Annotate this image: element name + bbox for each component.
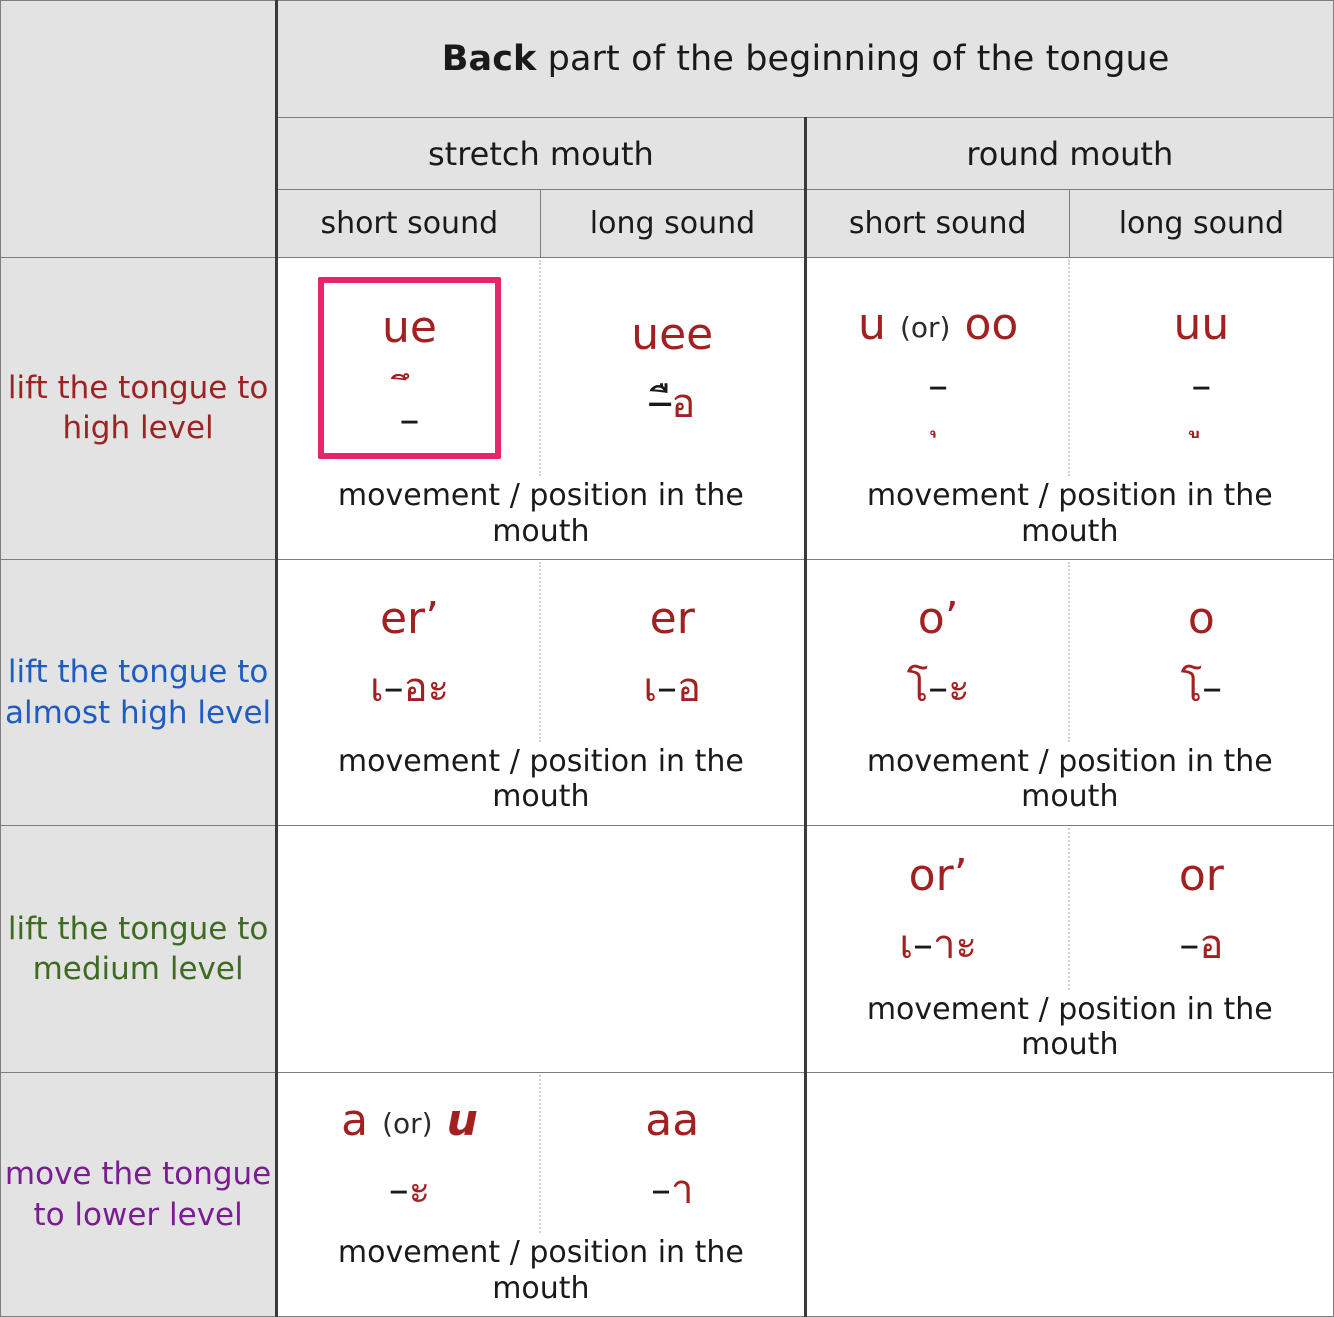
thai-er-long: เ–อ — [643, 668, 701, 708]
thai-o-long: โ– — [1181, 668, 1222, 708]
caption-almost-round: movement / position in the mouth — [807, 744, 1333, 825]
roman-a-u: a (or) u — [341, 1098, 478, 1144]
thai-a-short: –ะ — [389, 1170, 430, 1210]
vowel-cell-o-long[interactable]: o โ– — [1070, 560, 1333, 744]
data-row-medium-level: lift the tongue to medium level or’ เ–าะ… — [1, 825, 1334, 1073]
vowel-cell-uee[interactable]: uee –ือ — [541, 258, 804, 479]
thai-glyph-sara-u: – ุ — [928, 374, 948, 433]
roman-u-alt: u — [447, 1095, 478, 1146]
vowel-cell-ue[interactable]: ue ึ – — [278, 258, 541, 479]
vowel-cell-er-short[interactable]: er’ เ–อะ — [278, 560, 541, 744]
header-row-title: Back part of the beginning of the tongue — [1, 1, 1334, 118]
corner-cell — [1, 1, 277, 258]
vowel-cell-uu[interactable]: uu – ู — [1070, 258, 1333, 479]
data-row-almost-high-level: lift the tongue to almost high level er’… — [1, 560, 1334, 826]
roman-uee: uee — [631, 312, 713, 358]
thai-ue: ึ – — [400, 375, 420, 432]
thai-or-short: เ–าะ — [899, 925, 977, 965]
thai-glyph-sara-ue: ึ – — [400, 375, 420, 432]
caption-high-stretch: movement / position in the mouth — [278, 478, 803, 559]
data-row-high-level: lift the tongue to high level ue ึ – — [1, 257, 1334, 560]
vowel-cell-or-long[interactable]: or –อ — [1070, 826, 1333, 992]
caption-high-round: movement / position in the mouth — [807, 478, 1333, 559]
row-header-high-level: lift the tongue to high level — [1, 257, 277, 560]
vowel-cell-er-long[interactable]: er เ–อ — [541, 560, 804, 744]
chart-title: Back part of the beginning of the tongue — [277, 1, 1334, 118]
roman-o-short: o’ — [918, 596, 959, 642]
caption-lower-stretch: movement / position in the mouth — [278, 1235, 803, 1316]
cell-lower-stretch: a (or) u –ะ aa –า movement / position in… — [277, 1073, 805, 1317]
thai-uee: –ือ — [649, 384, 695, 424]
col-header-stretch-short: short sound — [277, 190, 541, 257]
thai-vowel-chart: Back part of the beginning of the tongue… — [0, 0, 1334, 1317]
vowel-cell-a-u[interactable]: a (or) u –ะ — [278, 1073, 541, 1235]
title-rest: part of the beginning of the tongue — [536, 39, 1169, 79]
thai-glyph-sara-uee: ือ — [671, 381, 695, 427]
roman-ue: ue — [382, 305, 437, 351]
roman-er-short: er’ — [380, 596, 439, 642]
vowel-cell-aa[interactable]: aa –า — [541, 1073, 804, 1235]
roman-o-long: o — [1188, 596, 1215, 642]
roman-u-oo: u (or) oo — [858, 302, 1018, 348]
cell-almost-round: o’ โ–ะ o โ– movement / position in the m… — [805, 560, 1333, 826]
vowel-cell-o-short[interactable]: o’ โ–ะ — [807, 560, 1070, 744]
roman-er-long: er — [650, 596, 695, 642]
row-header-almost-high-level: lift the tongue to almost high level — [1, 560, 277, 826]
row-header-lower-level: move the tongue to lower level — [1, 1073, 277, 1317]
col-header-stretch-long: long sound — [541, 190, 805, 257]
vowel-table: Back part of the beginning of the tongue… — [0, 0, 1334, 1317]
col-header-round-short: short sound — [805, 190, 1069, 257]
highlight-box-ue[interactable]: ue ึ – — [318, 277, 501, 459]
cell-high-round: u (or) oo – ุ — [805, 257, 1333, 560]
roman-oo: oo — [964, 299, 1018, 350]
group-header-stretch-mouth: stretch mouth — [277, 118, 805, 190]
roman-uu: uu — [1174, 302, 1230, 348]
vowel-cell-or-short[interactable]: or’ เ–าะ — [807, 826, 1070, 992]
roman-a: a — [341, 1095, 368, 1146]
thai-glyph-sara-uu: – ู — [1191, 374, 1211, 433]
title-bold-word: Back — [442, 39, 537, 79]
or-label-a: (or) — [382, 1107, 433, 1140]
col-header-round-long: long sound — [1069, 190, 1333, 257]
cell-medium-stretch-empty — [277, 825, 805, 1073]
cell-lower-round-empty — [805, 1073, 1333, 1317]
thai-or-long: –อ — [1179, 925, 1223, 965]
roman-or-short: or’ — [909, 853, 968, 899]
thai-o-short: โ–ะ — [907, 668, 970, 708]
roman-aa: aa — [645, 1098, 699, 1144]
cell-medium-round: or’ เ–าะ or –อ movement / position in th… — [805, 825, 1333, 1073]
vowel-cell-u-oo[interactable]: u (or) oo – ุ — [807, 258, 1070, 479]
roman-u: u — [858, 299, 886, 350]
group-header-round-mouth: round mouth — [805, 118, 1333, 190]
caption-almost-stretch: movement / position in the mouth — [278, 744, 803, 825]
cell-almost-stretch: er’ เ–อะ er เ–อ movement / position in t… — [277, 560, 805, 826]
caption-medium-round: movement / position in the mouth — [807, 992, 1333, 1073]
thai-u: – ุ — [928, 374, 948, 433]
or-label-u: (or) — [900, 311, 951, 344]
cell-high-stretch: ue ึ – uee — [277, 257, 805, 560]
roman-or-long: or — [1179, 853, 1224, 899]
thai-er-short: เ–อะ — [370, 668, 449, 708]
thai-uu: – ู — [1191, 374, 1211, 433]
thai-aa-long: –า — [651, 1170, 693, 1210]
row-header-medium-level: lift the tongue to medium level — [1, 825, 277, 1073]
data-row-lower-level: move the tongue to lower level a (or) u … — [1, 1073, 1334, 1317]
